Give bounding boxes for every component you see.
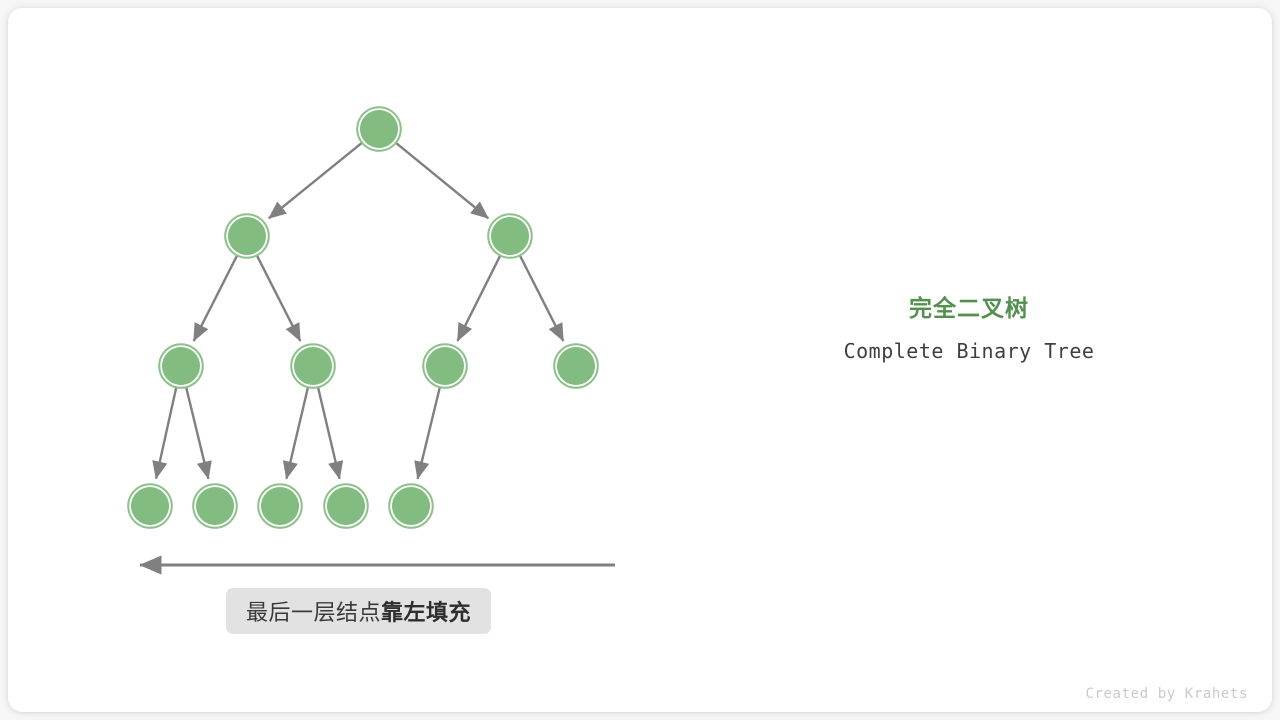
tree-edge bbox=[186, 386, 208, 478]
tree-edge bbox=[458, 255, 501, 341]
tree-edge bbox=[156, 387, 176, 479]
tree-node bbox=[159, 344, 203, 388]
tree-node bbox=[423, 344, 467, 388]
tree-node bbox=[258, 484, 302, 528]
node-core bbox=[327, 487, 365, 525]
tree-edge bbox=[257, 255, 301, 341]
node-core bbox=[162, 347, 200, 385]
tree-node bbox=[554, 344, 598, 388]
node-core bbox=[491, 217, 529, 255]
tree-edge bbox=[286, 386, 308, 478]
legend-title: 完全二叉树 bbox=[760, 292, 1178, 324]
tree-edge bbox=[318, 386, 340, 478]
diagram-canvas: 完全二叉树 Complete Binary Tree 最后一层结点靠左填充 Cr… bbox=[0, 0, 1280, 720]
tree-node bbox=[193, 484, 237, 528]
tree-node bbox=[324, 484, 368, 528]
caption-badge: 最后一层结点靠左填充 bbox=[226, 588, 491, 634]
tree-node bbox=[291, 344, 335, 388]
caption-emphasis: 靠左填充 bbox=[381, 600, 471, 625]
tree-edge bbox=[395, 142, 488, 218]
tree-node bbox=[389, 484, 433, 528]
legend-subtitle: Complete Binary Tree bbox=[760, 339, 1178, 363]
tree-edge bbox=[194, 255, 238, 341]
tree-node bbox=[128, 484, 172, 528]
tree-edge-layer bbox=[156, 142, 563, 479]
node-core bbox=[228, 217, 266, 255]
tree-node bbox=[225, 214, 269, 258]
node-core bbox=[294, 347, 332, 385]
node-core bbox=[392, 487, 430, 525]
node-core bbox=[261, 487, 299, 525]
tree-edge bbox=[269, 142, 363, 218]
tree-node bbox=[357, 107, 401, 151]
legend-block: 完全二叉树 Complete Binary Tree bbox=[760, 292, 1178, 363]
node-core bbox=[131, 487, 169, 525]
caption-text: 最后一层结点靠左填充 bbox=[246, 595, 471, 627]
tree-node-layer bbox=[128, 107, 598, 528]
tree-edge bbox=[418, 386, 440, 478]
credit-label: Created by Krahets bbox=[1085, 686, 1248, 702]
node-core bbox=[196, 487, 234, 525]
tree-edge bbox=[520, 255, 564, 341]
tree-node bbox=[488, 214, 532, 258]
node-core bbox=[426, 347, 464, 385]
node-core bbox=[557, 347, 595, 385]
node-core bbox=[360, 110, 398, 148]
caption-prefix: 最后一层结点 bbox=[246, 600, 381, 625]
